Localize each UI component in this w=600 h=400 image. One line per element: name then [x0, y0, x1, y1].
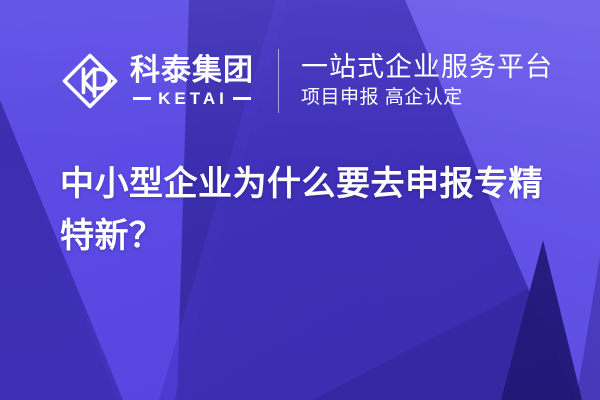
tagline-sub: 项目申报 高企认定	[301, 85, 553, 111]
promo-banner: 科泰集团 KETAI 一站式企业服务平台 项目申报 高企认定 中小型企业为什么要…	[0, 0, 600, 400]
tagline-main: 一站式企业服务平台	[301, 51, 553, 83]
brand-name-en: KETAI	[158, 90, 228, 107]
banner-header: 科泰集团 KETAI 一站式企业服务平台 项目申报 高企认定	[0, 40, 600, 122]
vertical-divider-icon	[278, 49, 279, 113]
brand-name-en-row: KETAI	[130, 90, 254, 107]
brand-logo[interactable]: 科泰集团 KETAI	[60, 51, 254, 111]
ketai-diamond-kd-logo-icon	[60, 51, 120, 111]
dash-right-icon	[233, 97, 251, 100]
headline-text: 中小型企业为什么要去申报专精特新？	[60, 158, 556, 262]
tagline-block: 一站式企业服务平台 项目申报 高企认定	[301, 51, 553, 111]
brand-wordmark: 科泰集团 KETAI	[130, 55, 254, 107]
brand-name-cn: 科泰集团	[130, 55, 254, 87]
dash-left-icon	[133, 97, 151, 100]
